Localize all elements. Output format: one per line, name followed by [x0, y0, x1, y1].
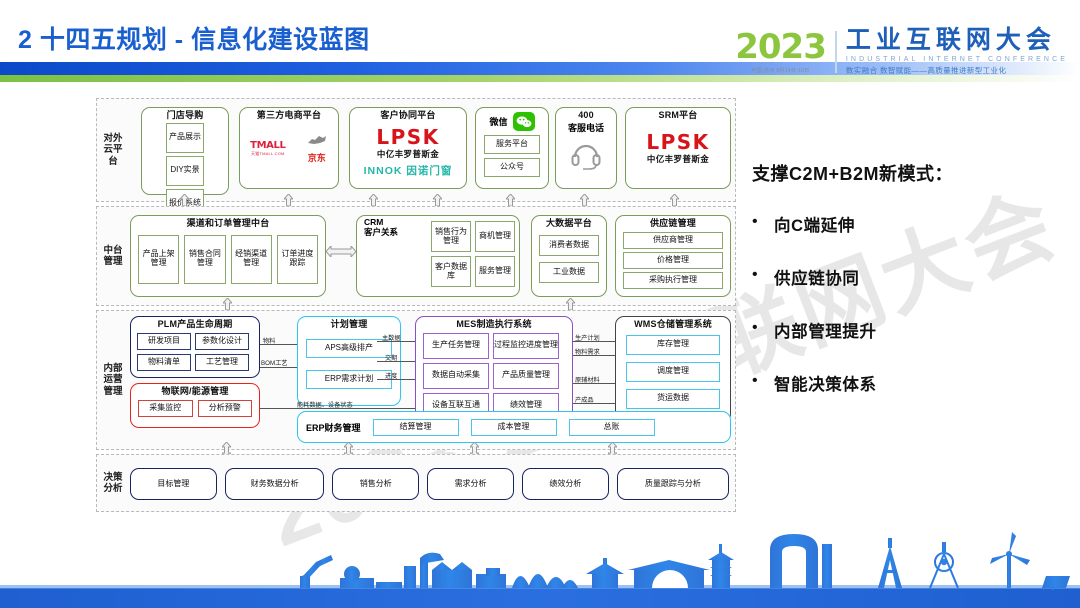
list-item[interactable]: 产品质量管理: [493, 363, 559, 389]
list-item[interactable]: 成本管理: [471, 419, 557, 436]
list-item[interactable]: 经销渠道管理: [231, 235, 272, 284]
arrow-up-icon: [369, 194, 378, 206]
list-item[interactable]: 产品展示: [166, 123, 204, 153]
connector-label: BOM工艺: [261, 358, 287, 367]
list-item[interactable]: 价格管理: [623, 252, 723, 269]
group-title: 供应链管理: [616, 216, 730, 229]
list-item[interactable]: 销售合同管理: [184, 235, 225, 284]
list-item[interactable]: 公众号: [484, 158, 540, 177]
list-item[interactable]: DIY实景: [166, 156, 204, 186]
logo-year-subtitle: 中国·苏州 8月14日-16日: [751, 67, 809, 74]
group-title: 客户协同平台: [350, 108, 466, 121]
lpsk-logo: LPSK: [350, 127, 466, 147]
highlight-item: • 供应链协同: [752, 265, 1072, 289]
group-hotline[interactable]: 400 客服电话: [555, 107, 617, 189]
highlights-panel: 支撑C2M+B2M新模式： • 向C端延伸 • 供应链协同 • 内部管理提升 •…: [752, 160, 1072, 424]
list-item[interactable]: 客户数据库: [431, 256, 471, 287]
group-subtitle: 客服电话: [556, 121, 616, 134]
city-skyline-graphic: [0, 530, 1080, 608]
connector-label: 生产计划: [575, 333, 600, 342]
list-item[interactable]: 货运数据: [626, 389, 720, 409]
arrow-bidirectional-vertical-icon: [608, 442, 617, 454]
highlight-item: • 向C端延伸: [752, 212, 1072, 236]
architecture-diagram: 对外云平台 门店导购 产品展示 DIY实景 报价系统 服务管理 第三方电商平台 …: [96, 98, 736, 530]
list-item[interactable]: 供应商管理: [623, 232, 723, 249]
group-wms[interactable]: WMS仓储管理系统 库存管理 调度管理 货运数据: [615, 316, 731, 423]
group-channel-order-center[interactable]: 渠道和订单管理中台 产品上架管理 销售合同管理 经销渠道管理 订单进度跟踪: [130, 215, 326, 297]
tmall-logo: TMALL: [250, 140, 285, 151]
group-mes[interactable]: MES制造执行系统 生产任务管理 过程监控进度管理 数据自动采集 产品质量管理 …: [415, 316, 573, 423]
arrow-bidirectional-vertical-icon: [344, 442, 353, 454]
innok-logo: INNOK 因诺门窗: [350, 163, 466, 178]
band-external-cloud: 对外云平台 门店导购 产品展示 DIY实景 报价系统 服务管理 第三方电商平台 …: [96, 98, 736, 202]
highlight-item: • 智能决策体系: [752, 371, 1072, 395]
arrow-up-icon: [506, 194, 515, 206]
group-title: 大数据平台: [532, 216, 606, 229]
bullet-icon: •: [752, 265, 774, 283]
list-item[interactable]: 目标管理: [130, 468, 217, 500]
group-title: WMS仓储管理系统: [616, 317, 730, 330]
page-title: 2 十四五规划 - 信息化建设蓝图: [18, 20, 370, 56]
list-item[interactable]: 消费者数据: [539, 235, 599, 256]
list-item[interactable]: 绩效分析: [522, 468, 609, 500]
list-item[interactable]: 调度管理: [626, 362, 720, 382]
logo-name-en: INDUSTRIAL INTERNET CONFERENCE: [846, 56, 1068, 63]
group-customer-portal[interactable]: 客户协同平台 LPSK 中亿丰罗普斯金 INNOK 因诺门窗: [349, 107, 467, 189]
list-item[interactable]: 工艺管理: [195, 354, 249, 371]
list-item[interactable]: 产品上架管理: [138, 235, 179, 284]
group-supply-chain[interactable]: 供应链管理 供应商管理 价格管理 采购执行管理: [615, 215, 731, 297]
lpsk-logo: LPSK: [626, 132, 730, 152]
jd-dog-icon: [306, 133, 328, 146]
list-item[interactable]: 过程监控进度管理: [493, 333, 559, 359]
logo-slogan: 数实融合 数智赋能——高质量推进新型工业化: [846, 65, 1068, 76]
list-item[interactable]: 库存管理: [626, 335, 720, 355]
list-item[interactable]: 质量跟踪与分析: [617, 468, 729, 500]
list-item[interactable]: 分析预警: [198, 400, 253, 417]
band-internal-operations: 内部运营管理 PLM产品生命周期 研发项目 参数化设计 物料清单 工艺管理 物联…: [96, 310, 736, 450]
connector-label: 主数据: [382, 333, 401, 342]
arrow-up-icon: [580, 194, 589, 206]
bullet-icon: •: [752, 371, 774, 389]
list-item[interactable]: 总账: [569, 419, 655, 436]
list-item[interactable]: 研发项目: [137, 333, 191, 350]
group-title: SRM平台: [626, 108, 730, 121]
bullet-icon: •: [752, 212, 774, 230]
band-label-internal-operations: 内部运营管理: [100, 311, 126, 449]
group-title: 400: [556, 108, 616, 121]
list-item[interactable]: 数据自动采集: [423, 363, 489, 389]
group-bigdata-platform[interactable]: 大数据平台 消费者数据 工业数据: [531, 215, 607, 297]
arrow-bidirectional-icon: [326, 244, 356, 262]
connector-label: 产成品: [575, 395, 594, 404]
band-decision-analysis: 决策分析 目标管理 财务数据分析 销售分析 需求分析 绩效分析 质量跟踪与分析: [96, 454, 736, 512]
group-title: 门店导购: [142, 108, 228, 121]
arrow-up-icon: [566, 298, 575, 310]
list-item[interactable]: 工业数据: [539, 262, 599, 283]
group-title: 渠道和订单管理中台: [131, 216, 325, 229]
lpsk-logo-cn: 中亿丰罗普斯金: [626, 153, 730, 165]
group-iot-energy[interactable]: 物联网/能源管理 采集监控 分析预警: [130, 383, 260, 428]
arrow-up-icon: [433, 194, 442, 206]
list-item[interactable]: 生产任务管理: [423, 333, 489, 359]
group-third-party-ecommerce[interactable]: 第三方电商平台 TMALL 天猫TMALL.COM 京东: [239, 107, 339, 189]
group-title: 微信: [489, 115, 507, 128]
highlights-heading: 支撑C2M+B2M新模式：: [752, 160, 1072, 186]
group-srm[interactable]: SRM平台 LPSK 中亿丰罗普斯金: [625, 107, 731, 189]
list-item[interactable]: 销售行为管理: [431, 221, 471, 252]
connector-label: 物料需求: [575, 347, 600, 356]
connector-label: 交期: [385, 353, 397, 362]
list-item[interactable]: 结算管理: [373, 419, 459, 436]
list-item[interactable]: 采购执行管理: [623, 272, 723, 289]
wechat-icon: [513, 112, 535, 131]
connector-label: 原辅材料: [575, 375, 600, 384]
arrow-up-icon: [180, 194, 189, 206]
list-item[interactable]: 商机管理: [475, 221, 515, 252]
logo-name-cn: 工业互联网大会: [846, 28, 1068, 53]
connector-label: 进度: [385, 371, 397, 380]
group-crm[interactable]: CRM 客户关系 销售行为管理 商机管理 客户数据库 服务管理: [356, 215, 520, 297]
jd-logo: 京东: [306, 151, 328, 164]
band-label-decision-analysis: 决策分析: [100, 455, 126, 511]
logo-year: 2023: [735, 30, 826, 64]
highlight-label: 智能决策体系: [774, 371, 877, 395]
connector-line: [260, 367, 298, 368]
group-title: 第三方电商平台: [240, 108, 338, 121]
group-erp-finance[interactable]: ERP财务管理 结算管理 成本管理 总账: [297, 411, 731, 443]
list-item[interactable]: 参数化设计: [195, 333, 249, 350]
group-plm[interactable]: PLM产品生命周期 研发项目 参数化设计 物料清单 工艺管理: [130, 316, 260, 378]
highlight-label: 内部管理提升: [774, 318, 877, 342]
lpsk-logo-cn: 中亿丰罗普斯金: [350, 148, 466, 160]
arrow-bidirectional-vertical-icon: [470, 442, 479, 454]
logo-divider: [835, 31, 837, 73]
title-rule-green: [0, 75, 1080, 82]
highlight-label: 向C端延伸: [774, 212, 855, 236]
band-label-middle-platform: 中台管理: [100, 207, 126, 305]
group-title: ERP财务管理: [306, 421, 361, 434]
group-store-guide[interactable]: 门店导购 产品展示 DIY实景 报价系统 服务管理: [141, 107, 229, 195]
list-item[interactable]: 服务平台: [484, 135, 540, 154]
group-title: 物联网/能源管理: [131, 384, 259, 397]
connector-label: 物料: [263, 336, 275, 345]
highlight-item: • 内部管理提升: [752, 318, 1072, 342]
list-item[interactable]: 采集监控: [138, 400, 193, 417]
arrow-bidirectional-vertical-icon: [222, 442, 231, 454]
list-item[interactable]: 订单进度跟踪: [277, 235, 318, 284]
conference-logo: 2023 中国·苏州 8月14日-16日 工业互联网大会 INDUSTRIAL …: [735, 28, 1068, 76]
list-item[interactable]: 物料清单: [137, 354, 191, 371]
group-title: 计划管理: [298, 317, 400, 330]
arrow-up-icon: [223, 298, 232, 310]
list-item[interactable]: 财务数据分析: [225, 468, 325, 500]
list-item[interactable]: 销售分析: [332, 468, 419, 500]
bullet-icon: •: [752, 318, 774, 336]
group-title: PLM产品生命周期: [131, 317, 259, 330]
band-label-external-cloud: 对外云平台: [100, 99, 126, 201]
arrow-up-icon: [670, 194, 679, 206]
list-item[interactable]: 需求分析: [427, 468, 514, 500]
arrow-up-icon: [284, 194, 293, 206]
band-middle-platform: 中台管理 渠道和订单管理中台 产品上架管理 销售合同管理 经销渠道管理 订单进度…: [96, 206, 736, 306]
headset-icon: [569, 140, 603, 170]
highlight-label: 供应链协同: [774, 265, 860, 289]
group-wechat[interactable]: 微信 服务平台 公众号: [475, 107, 549, 189]
group-title: MES制造执行系统: [416, 317, 572, 330]
tmall-logo-sub: 天猫TMALL.COM: [250, 151, 285, 157]
list-item[interactable]: 服务管理: [475, 256, 515, 287]
connector-label: 能耗数据、设备状态: [297, 400, 353, 409]
